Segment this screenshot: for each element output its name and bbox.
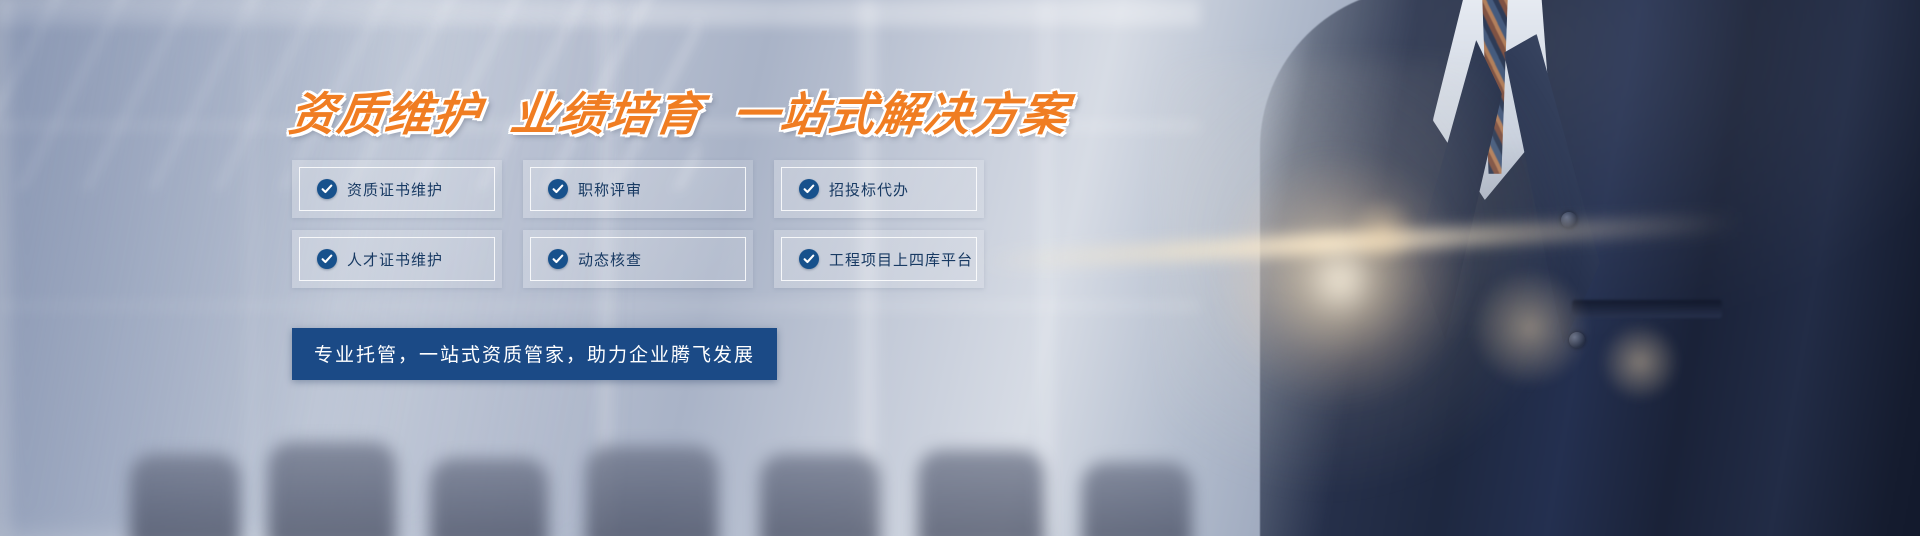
banner-headline: 资质维护 业绩培育 一站式解决方案: [285, 78, 1073, 144]
feature-card-inner: 工程项目上四库平台: [781, 237, 977, 281]
feature-card-inner: 人才证书维护: [299, 237, 495, 281]
check-circle-icon: [799, 179, 819, 199]
banner-tagline: 专业托管，一站式资质管家，助力企业腾飞发展: [292, 328, 777, 380]
feature-card-inner: 资质证书维护: [299, 167, 495, 211]
check-circle-icon: [548, 249, 568, 269]
banner-content: 资质维护 业绩培育 一站式解决方案 资质证书维护 职称评审: [0, 0, 1920, 536]
check-circle-icon: [317, 249, 337, 269]
check-circle-icon: [799, 249, 819, 269]
feature-card[interactable]: 招投标代办: [774, 160, 984, 218]
promo-banner: 资质维护 业绩培育 一站式解决方案 资质证书维护 职称评审: [0, 0, 1920, 536]
feature-label: 资质证书维护: [347, 179, 443, 200]
feature-card[interactable]: 资质证书维护: [292, 160, 502, 218]
check-circle-icon: [548, 179, 568, 199]
feature-card-inner: 招投标代办: [781, 167, 977, 211]
check-circle-icon: [317, 179, 337, 199]
feature-card[interactable]: 工程项目上四库平台: [774, 230, 984, 288]
feature-card-inner: 职称评审: [530, 167, 746, 211]
feature-card[interactable]: 职称评审: [523, 160, 753, 218]
feature-card[interactable]: 动态核查: [523, 230, 753, 288]
feature-grid: 资质证书维护 职称评审 招投标代办: [292, 160, 984, 288]
feature-card[interactable]: 人才证书维护: [292, 230, 502, 288]
feature-label: 人才证书维护: [347, 249, 443, 270]
feature-card-inner: 动态核查: [530, 237, 746, 281]
feature-label: 招投标代办: [829, 179, 909, 200]
feature-label: 工程项目上四库平台: [829, 249, 973, 270]
feature-label: 职称评审: [578, 179, 642, 200]
feature-label: 动态核查: [578, 249, 642, 270]
